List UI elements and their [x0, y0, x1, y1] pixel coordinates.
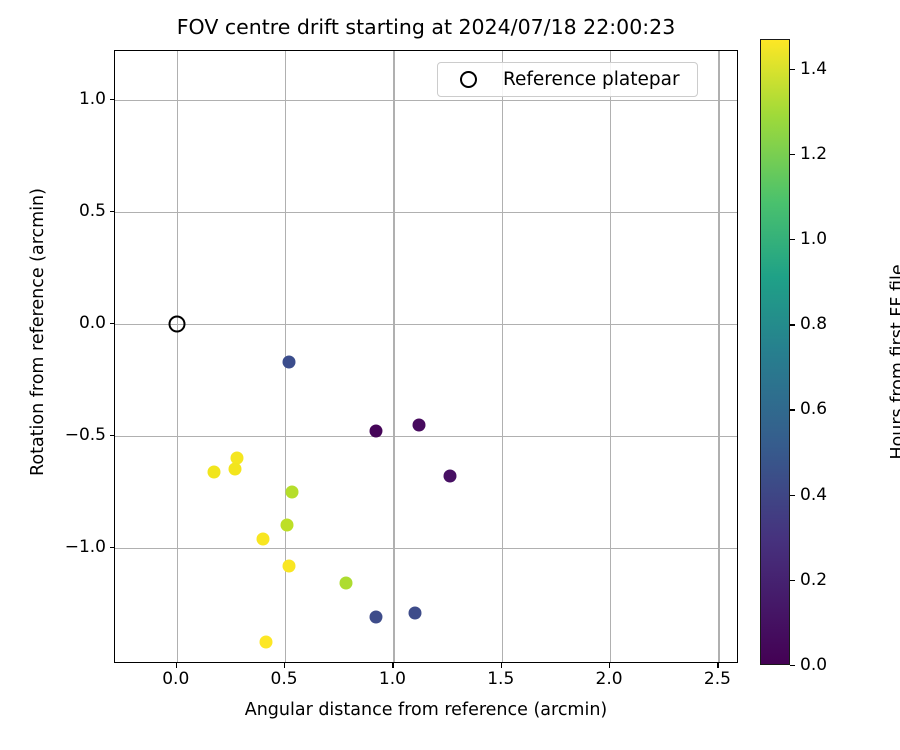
x-tick-mark: [609, 663, 610, 668]
scatter-point: [443, 470, 456, 483]
y-tick-mark: [110, 547, 115, 548]
y-axis-label: Rotation from reference (arcmin): [28, 162, 48, 502]
scatter-point: [413, 418, 426, 431]
y-tick-mark: [110, 435, 115, 436]
x-axis-label: Angular distance from reference (arcmin): [114, 700, 738, 720]
reference-platepar-marker: [168, 315, 185, 332]
colorbar[interactable]: 0.00.20.40.60.81.01.21.4: [760, 39, 790, 665]
y-tick-label: 1.0: [79, 89, 106, 109]
scatter-point: [283, 355, 296, 368]
x-tick-mark: [284, 663, 285, 668]
colorbar-tick-mark: [790, 409, 795, 410]
legend-marker-open-circle-icon: [460, 71, 477, 88]
x-tick-label: 1.5: [487, 669, 514, 689]
y-tick-label: −1.0: [65, 537, 106, 557]
x-tick-label: 2.0: [596, 669, 623, 689]
x-tick-label: 0.5: [271, 669, 298, 689]
colorbar-axis-label: Hours from first FF file: [888, 192, 900, 532]
x-tick-mark: [717, 663, 718, 668]
chart-title: FOV centre drift starting at 2024/07/18 …: [114, 14, 738, 40]
x-tick-label: 1.0: [379, 669, 406, 689]
colorbar-tick-label: 0.0: [800, 655, 827, 675]
colorbar-tick-mark: [790, 154, 795, 155]
gridline-horizontal: [115, 212, 737, 213]
y-tick-label: 0.0: [79, 313, 106, 333]
x-tick-mark: [501, 663, 502, 668]
y-tick-label: −0.5: [65, 425, 106, 445]
y-tick-labels: 1.00.50.0−0.5−1.0: [0, 0, 106, 750]
y-tick-label: 0.5: [79, 201, 106, 221]
colorbar-tick-mark: [790, 665, 795, 666]
scatter-point: [207, 465, 220, 478]
colorbar-tick-mark: [790, 580, 795, 581]
gridline-vertical: [610, 51, 611, 662]
colorbar-tick-label: 1.4: [800, 59, 827, 79]
scatter-point: [285, 485, 298, 498]
gridline-horizontal: [115, 100, 737, 101]
scatter-point: [339, 577, 352, 590]
legend-label: Reference platepar: [503, 69, 686, 90]
y-tick-mark: [110, 211, 115, 212]
colorbar-tick-mark: [790, 69, 795, 70]
colorbar-gradient: [760, 39, 790, 665]
gridline-vertical: [393, 51, 394, 662]
gridline-vertical: [177, 51, 178, 662]
figure-canvas: FOV centre drift starting at 2024/07/18 …: [0, 0, 900, 750]
colorbar-tick-label: 1.2: [800, 144, 827, 164]
colorbar-tick-label: 0.8: [800, 314, 827, 334]
scatter-point: [370, 611, 383, 624]
gridline-vertical: [502, 51, 503, 662]
y-tick-mark: [110, 99, 115, 100]
x-tick-mark: [392, 663, 393, 668]
colorbar-tick-mark: [790, 239, 795, 240]
gridline-vertical: [718, 51, 719, 662]
gridline-horizontal: [115, 548, 737, 549]
x-tick-label: 2.5: [704, 669, 731, 689]
x-tick-label: 0.0: [162, 669, 189, 689]
scatter-point: [281, 519, 294, 532]
plot-area[interactable]: [114, 50, 738, 663]
scatter-point: [257, 532, 270, 545]
colorbar-tick-mark: [790, 324, 795, 325]
colorbar-tick-label: 0.6: [800, 399, 827, 419]
scatter-point: [409, 606, 422, 619]
colorbar-tick-label: 0.2: [800, 570, 827, 590]
x-tick-mark: [176, 663, 177, 668]
legend[interactable]: Reference platepar: [437, 62, 698, 97]
scatter-point: [370, 425, 383, 438]
gridline-horizontal: [115, 436, 737, 437]
scatter-point: [229, 463, 242, 476]
scatter-point: [283, 559, 296, 572]
scatter-point: [259, 635, 272, 648]
colorbar-tick-label: 0.4: [800, 485, 827, 505]
gridline-horizontal: [115, 324, 737, 325]
colorbar-tick-label: 1.0: [800, 229, 827, 249]
y-tick-mark: [110, 323, 115, 324]
colorbar-tick-mark: [790, 495, 795, 496]
